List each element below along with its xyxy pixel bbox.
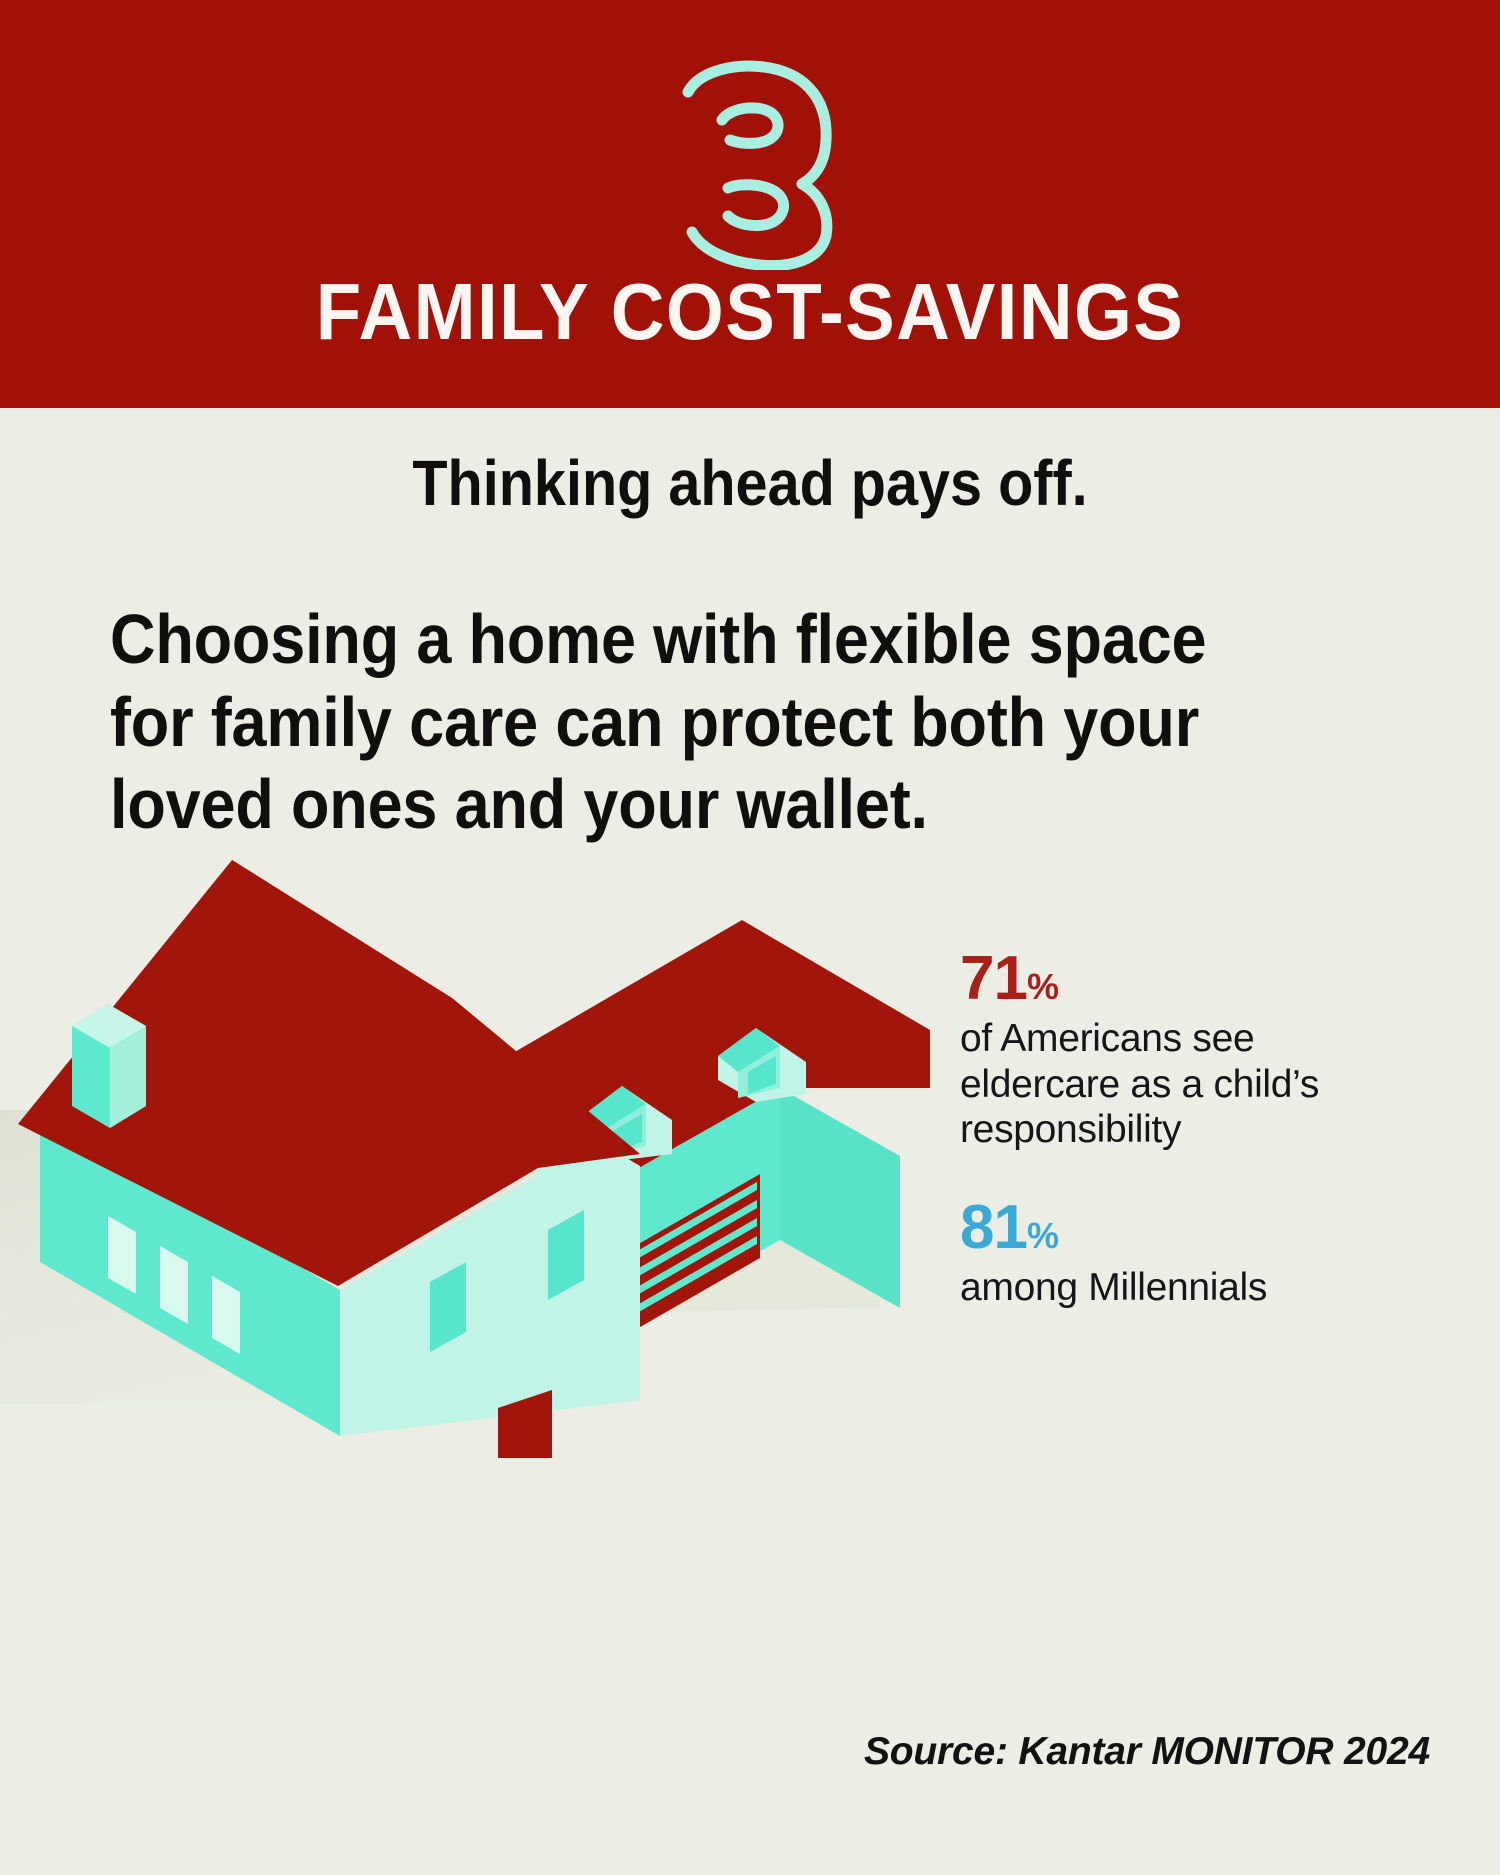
paragraph-line-2: for family care can protect both your [110,681,1298,764]
isometric-house-icon [0,838,930,1458]
stat-value-71: 71% [960,948,1440,1010]
stat-number-text: 81 [960,1193,1027,1262]
header-title: FAMILY COST-SAVINGS [53,272,1448,352]
body-paragraph: Choosing a home with flexible space for … [110,598,1430,846]
stat-value-81: 81% [960,1197,1440,1259]
step-number-graphic [0,60,1500,270]
percent-symbol: % [1027,1215,1059,1256]
stat-desc-line-1: among Millennials [960,1265,1440,1311]
stat-description-71: of Americans see eldercare as a child’s … [960,1016,1440,1153]
statistics-panel: 71% of Americans see eldercare as a chil… [960,948,1440,1311]
content-area: Thinking ahead pays off. Choosing a home… [0,408,1500,1875]
stat-desc-line-1: of Americans see [960,1016,1440,1062]
stat-desc-line-2: eldercare as a child’s [960,1062,1440,1108]
paragraph-line-1: Choosing a home with flexible space [110,598,1298,681]
stat-number-text: 71 [960,944,1027,1013]
percent-symbol: % [1027,966,1059,1007]
source-citation: Source: Kantar MONITOR 2024 [0,1730,1430,1774]
paragraph-line-3: loved ones and your wallet. [110,763,1298,846]
numeral-three-outline-icon [630,60,870,270]
stat-description-81: among Millennials [960,1265,1440,1311]
headline-text: Thinking ahead pays off. [75,450,1425,517]
header-banner: FAMILY COST-SAVINGS [0,0,1500,408]
stat-block-millennials: 81% among Millennials [960,1197,1440,1311]
chimney [72,1004,146,1128]
stat-desc-line-3: responsibility [960,1107,1440,1153]
stat-block-americans: 71% of Americans see eldercare as a chil… [960,948,1440,1153]
house-illustration [0,838,930,1458]
